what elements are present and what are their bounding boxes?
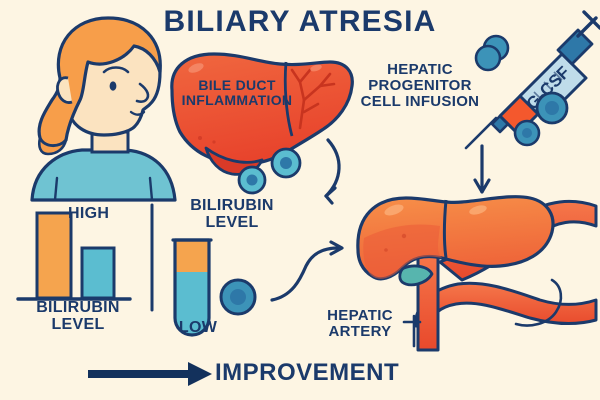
patient-child-illustration xyxy=(32,18,175,200)
tube-orange-segment xyxy=(173,238,211,272)
arrow-curve-right xyxy=(272,248,338,300)
label-improvement: IMPROVEMENT xyxy=(215,360,435,385)
bilirubin-bar-chart xyxy=(18,213,130,299)
label-hepatic-progenitor-cell-infusion: HEPATIC PROGENITOR CELL INFUSION xyxy=(340,62,500,109)
label-bilirubin-level-tube: BILIRUBIN LEVEL xyxy=(172,198,292,232)
label-high: HIGH xyxy=(68,206,138,223)
label-bilirubin-level-chart: BILIRUBIN LEVEL xyxy=(8,300,148,334)
inflamed-liver-illustration xyxy=(172,54,352,174)
label-bile-duct-inflammation: BILE DUCT INFLAMMATION xyxy=(172,78,302,107)
progenitor-cell-single xyxy=(221,280,255,314)
illustration-layer: G-CSF xyxy=(0,0,600,400)
bar-after xyxy=(82,248,114,298)
eye-icon xyxy=(110,81,117,90)
arrow-curve-down xyxy=(326,140,339,196)
page-title: BILIARY ATRESIA xyxy=(0,6,600,38)
label-hepatic-artery: HEPATIC ARTERY xyxy=(310,308,410,340)
label-low: LOW xyxy=(168,320,228,337)
artery-lower xyxy=(416,283,596,326)
infographic-canvas: G-CSF xyxy=(0,0,600,400)
bar-before xyxy=(37,213,71,298)
